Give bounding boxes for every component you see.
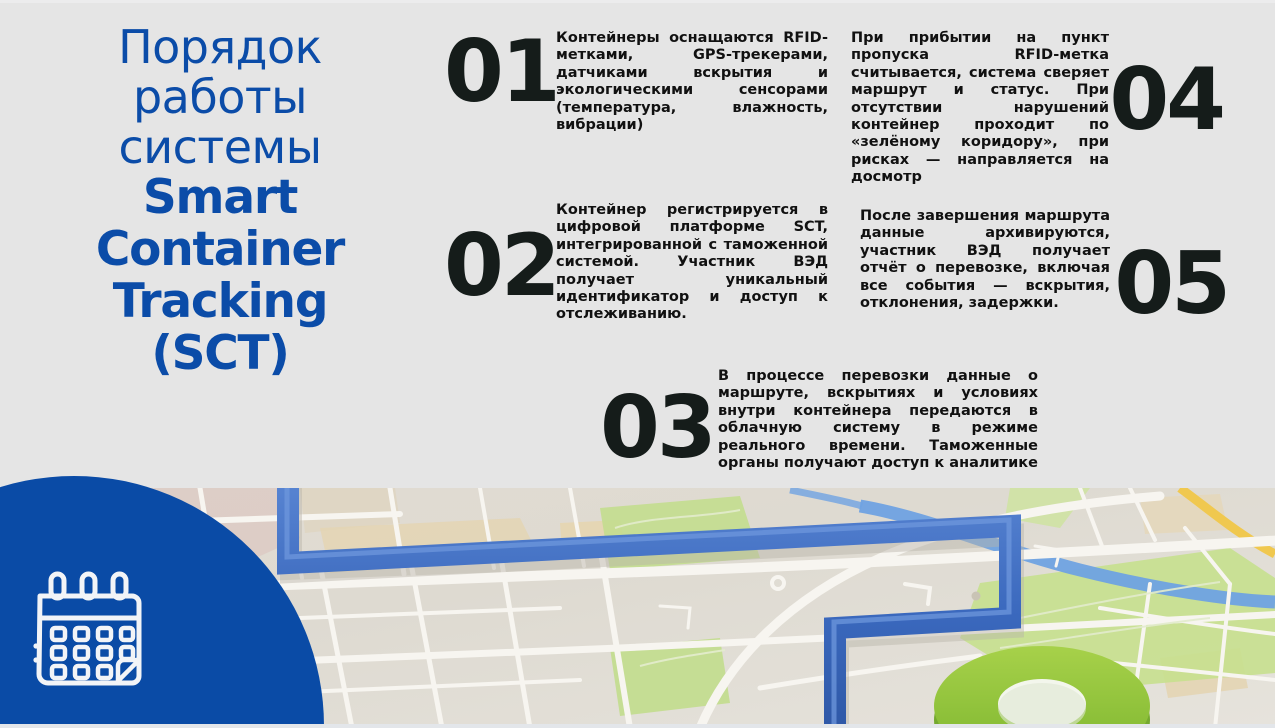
slide-root: Порядок работы системы Smart Container T… (0, 0, 1275, 728)
step-item-02: 02 Контейнер регистрируется в цифровой п… (444, 202, 828, 324)
step-text-05: После завершения маршрута данные архивир… (860, 208, 1110, 312)
step-text-02: Контейнер регистрируется в цифровой плат… (556, 202, 828, 324)
step-item-05: После завершения маршрута данные архивир… (860, 208, 1228, 326)
step-text-04: При прибытии на пункт пропуска RFID-метк… (851, 30, 1109, 187)
top-hairline (0, 0, 1275, 3)
step-item-01: 01 Контейнеры оснащаются RFID-метками, G… (444, 30, 828, 134)
calendar-icon-glyph (30, 568, 142, 692)
step-text-03: В процессе перевозки данные о маршруте, … (718, 368, 1038, 472)
step-text-01: Контейнеры оснащаются RFID-метками, GPS-… (556, 30, 828, 134)
step-item-03: 03 В процессе перевозки данные о маршрут… (600, 368, 1038, 472)
step-number-05: 05 (1110, 242, 1228, 326)
step-number-01: 01 (444, 30, 556, 114)
step-item-04: При прибытии на пункт пропуска RFID-метк… (851, 30, 1223, 187)
calendar-icon (30, 568, 142, 692)
steps-list: 01 Контейнеры оснащаются RFID-метками, G… (0, 0, 1275, 500)
bottom-hairline (0, 724, 1275, 728)
step-number-02: 02 (444, 224, 556, 308)
step-number-04: 04 (1109, 58, 1223, 142)
step-number-03: 03 (600, 386, 718, 470)
